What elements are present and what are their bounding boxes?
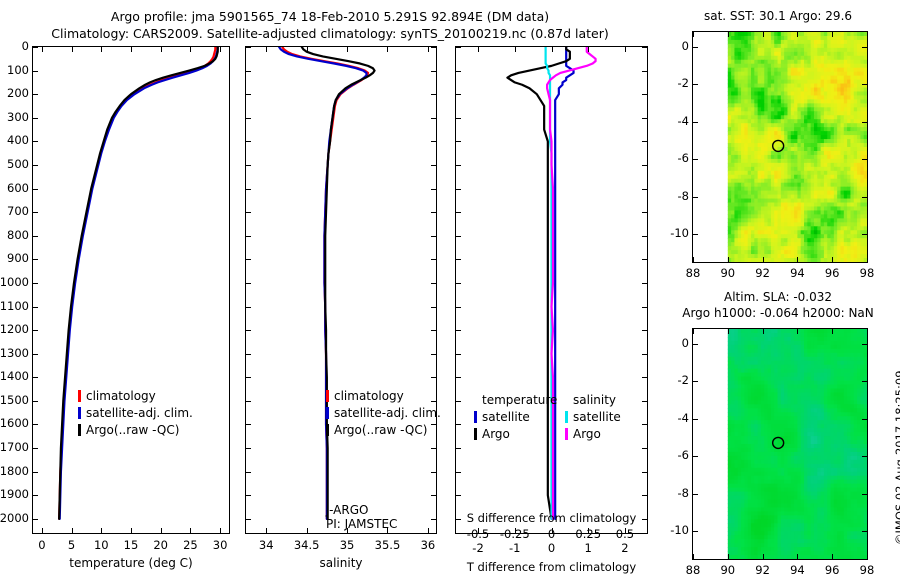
axis-tick-mark — [33, 377, 38, 378]
axis-tick-label: 100 — [0, 63, 29, 77]
axis-tick-label: 200 — [0, 86, 29, 100]
axis-tick-label: 300 — [0, 110, 29, 124]
map-cell — [864, 337, 867, 342]
map-cell — [864, 206, 867, 211]
axis-tick-mark — [862, 122, 867, 123]
axis-tick-mark — [862, 234, 867, 235]
map-cell — [864, 68, 867, 73]
legend-label: Argo — [573, 427, 601, 441]
axis-tick-mark — [693, 234, 698, 235]
legend-label: climatology — [86, 389, 156, 403]
salinity-note-jargo: J-ARGO — [326, 503, 368, 517]
salinity-legend-item: satellite-adj. clim. — [326, 405, 441, 422]
map-cell — [864, 214, 867, 219]
axis-tick-mark — [33, 495, 38, 496]
salinity-legend-item: Argo(..raw -QC) — [326, 422, 441, 439]
axis-tick-label: -2 — [659, 76, 689, 90]
axis-tick-mark — [131, 47, 132, 52]
legend-label: climatology — [334, 389, 404, 403]
axis-tick-mark — [33, 165, 38, 166]
map-cell — [864, 448, 867, 453]
axis-tick-mark — [33, 283, 38, 284]
axis-tick-label: 90 — [710, 266, 746, 280]
axis-tick-label: -4 — [659, 114, 689, 128]
map-cell — [864, 238, 867, 243]
map-cell — [864, 511, 867, 516]
axis-tick-mark — [161, 528, 162, 533]
map-cell — [864, 523, 867, 528]
map-cell — [864, 123, 867, 128]
map-cell — [864, 460, 867, 465]
map-cell — [864, 218, 867, 223]
axis-tick-label: 1500 — [0, 393, 29, 407]
difference-salinity-axis-label: S difference from climatology — [455, 511, 648, 525]
map-cell — [864, 428, 867, 433]
axis-tick-mark — [693, 257, 694, 262]
salinity-legend-item: climatology — [326, 388, 441, 405]
axis-tick-mark — [161, 47, 162, 52]
legend-label: satellite-adj. clim. — [86, 406, 193, 420]
axis-tick-mark — [101, 47, 102, 52]
map-cell — [864, 111, 867, 116]
salinity-profile-plot — [245, 46, 437, 534]
map-cell — [864, 179, 867, 184]
axis-tick-label: -8 — [659, 189, 689, 203]
axis-tick-mark — [693, 32, 694, 37]
map-cell — [864, 56, 867, 61]
axis-tick-label: 0 — [532, 541, 572, 555]
axis-tick-mark — [307, 47, 308, 52]
axis-tick-mark — [33, 212, 38, 213]
axis-tick-label: -10 — [659, 226, 689, 240]
axis-tick-label: 1400 — [0, 369, 29, 383]
axis-tick-mark — [387, 47, 388, 52]
map-cell — [864, 64, 867, 69]
map-cell — [864, 76, 867, 81]
legend-label: Argo(..raw -QC) — [86, 423, 179, 437]
map-cell — [864, 349, 867, 354]
axis-tick-label: 1 — [568, 541, 608, 555]
map-cell — [864, 163, 867, 168]
axis-tick-mark — [266, 47, 267, 52]
axis-tick-label: 1800 — [0, 464, 29, 478]
difference-profile-plot — [455, 46, 648, 534]
map-cell — [864, 91, 867, 96]
axis-tick-mark — [515, 528, 516, 533]
map-cell — [864, 52, 867, 57]
axis-tick-mark — [72, 47, 73, 52]
axis-tick-mark — [867, 257, 868, 262]
axis-tick-mark — [33, 330, 38, 331]
axis-tick-mark — [588, 47, 589, 52]
legend-label: satellite — [482, 410, 530, 424]
legend-label: satellite — [573, 410, 621, 424]
map-cell — [864, 250, 867, 255]
salinity-legend: climatologysatellite-adj. clim.Argo(..ra… — [326, 388, 441, 439]
map-cell — [864, 424, 867, 429]
map-cell — [864, 210, 867, 215]
axis-tick-mark — [33, 401, 38, 402]
legend-label: Argo(..raw -QC) — [334, 423, 427, 437]
axis-tick-label: 1900 — [0, 487, 29, 501]
axis-tick-mark — [33, 94, 38, 95]
map-cell — [864, 246, 867, 251]
axis-tick-mark — [33, 424, 38, 425]
axis-tick-label: 92 — [745, 266, 781, 280]
figure-title-line1: Argo profile: jma 5901565_74 18-Feb-2010… — [0, 9, 660, 24]
map-cell — [864, 488, 867, 493]
series-line-climatology — [59, 47, 215, 519]
axis-tick-mark — [33, 47, 38, 48]
axis-tick-mark — [862, 84, 867, 85]
axis-tick-mark — [42, 47, 43, 52]
map-cell — [864, 539, 867, 544]
axis-tick-mark — [33, 236, 38, 237]
axis-tick-mark — [307, 528, 308, 533]
axis-tick-mark — [220, 528, 221, 533]
legend-color-swatch — [326, 390, 329, 402]
axis-tick-label: -6 — [659, 151, 689, 165]
axis-tick-mark — [33, 118, 38, 119]
map-cell — [864, 472, 867, 477]
map-cell — [864, 507, 867, 512]
difference-legend-salinity-item: Argo — [565, 426, 621, 443]
axis-tick-mark — [72, 528, 73, 533]
map-cell — [864, 400, 867, 405]
axis-tick-label: 96 — [814, 266, 850, 280]
difference-legend-temperature-heading: temperature — [482, 392, 557, 409]
axis-tick-mark — [862, 197, 867, 198]
axis-tick-label: 1200 — [0, 322, 29, 336]
map-cell — [864, 464, 867, 469]
axis-tick-mark — [33, 71, 38, 72]
axis-tick-mark — [693, 122, 698, 123]
series-line-satellite-adj-clim- — [60, 47, 218, 519]
map-cell — [864, 151, 867, 156]
axis-tick-mark — [347, 47, 348, 52]
map-cell — [864, 127, 867, 132]
axis-tick-mark — [33, 307, 38, 308]
legend-color-swatch — [78, 390, 81, 402]
map-cell — [864, 440, 867, 445]
map-cell — [864, 143, 867, 148]
map-cell — [864, 496, 867, 501]
map-cell — [864, 203, 867, 208]
map-cell — [864, 412, 867, 417]
axis-tick-label: 500 — [0, 157, 29, 171]
axis-tick-label: 900 — [0, 251, 29, 265]
temperature-x-axis-label: temperature (deg C) — [32, 556, 230, 570]
map-cell — [864, 187, 867, 192]
axis-tick-mark — [625, 47, 626, 52]
axis-tick-mark — [763, 32, 764, 37]
map-cell — [864, 115, 867, 120]
legend-color-swatch — [326, 424, 329, 436]
axis-tick-label: 36 — [404, 538, 452, 552]
map-cell — [864, 48, 867, 53]
axis-tick-mark — [693, 84, 698, 85]
axis-tick-mark — [190, 47, 191, 52]
map-cell — [864, 345, 867, 350]
axis-tick-mark — [552, 47, 553, 52]
series-line-argo-raw-qc- — [59, 47, 218, 519]
series-line-temperature-argo — [507, 47, 569, 519]
map-cell — [864, 396, 867, 401]
axis-tick-label: 1000 — [0, 275, 29, 289]
map-cell — [864, 369, 867, 374]
axis-tick-label: 30 — [200, 538, 240, 552]
map-cell — [864, 242, 867, 247]
map-cell — [864, 404, 867, 409]
map-cell — [864, 476, 867, 481]
salinity-note-pi: PI: JAMSTEC — [326, 517, 397, 531]
temperature-legend-item: climatology — [78, 388, 193, 405]
axis-tick-label: -1 — [495, 541, 535, 555]
axis-tick-label: 94 — [779, 266, 815, 280]
difference-legend-salinity: salinitysatelliteArgo — [565, 392, 621, 443]
map-cell — [864, 103, 867, 108]
axis-tick-label: 0 — [659, 39, 689, 53]
series-line-temperature-satellite — [555, 47, 573, 519]
axis-tick-mark — [797, 32, 798, 37]
map-cell — [864, 199, 867, 204]
difference-legend-temperature-item: Argo — [474, 426, 557, 443]
map-cell — [864, 480, 867, 485]
map-cell — [864, 500, 867, 505]
axis-tick-mark — [728, 257, 729, 262]
axis-tick-mark — [552, 528, 553, 533]
map-cell — [864, 388, 867, 393]
axis-tick-mark — [42, 528, 43, 533]
map-cell — [864, 139, 867, 144]
series-line-satellite-adj-clim- — [279, 47, 366, 519]
map-cell — [864, 357, 867, 362]
map-cell — [864, 503, 867, 508]
map-cell — [864, 95, 867, 100]
difference-legend-salinity-item: satellite — [565, 409, 621, 426]
axis-tick-label: 800 — [0, 228, 29, 242]
map-cell — [864, 432, 867, 437]
map-cell — [864, 107, 867, 112]
axis-tick-mark — [693, 159, 698, 160]
axis-tick-mark — [478, 528, 479, 533]
axis-tick-mark — [867, 32, 868, 37]
difference-legend-salinity-heading: salinity — [573, 392, 621, 409]
sst-map — [692, 31, 868, 263]
map-cell — [864, 353, 867, 358]
map-cell — [864, 131, 867, 136]
axis-tick-mark — [693, 47, 698, 48]
axis-tick-mark — [220, 47, 221, 52]
difference-legend-temperature-item: satellite — [474, 409, 557, 426]
legend-label: satellite-adj. clim. — [334, 406, 441, 420]
map-cell — [864, 468, 867, 473]
map-cell — [864, 484, 867, 489]
axis-tick-label: 98 — [849, 266, 885, 280]
difference-temperature-axis-label: T difference from climatology — [452, 560, 651, 574]
axis-tick-label: 700 — [0, 204, 29, 218]
temperature-legend-item: Argo(..raw -QC) — [78, 422, 193, 439]
map-cell — [864, 519, 867, 524]
axis-tick-label: 600 — [0, 181, 29, 195]
map-cell — [864, 167, 867, 172]
axis-tick-mark — [33, 472, 38, 473]
series-line-argo-raw-qc- — [302, 47, 375, 519]
axis-tick-mark — [728, 32, 729, 37]
axis-tick-mark — [478, 47, 479, 52]
map-cell — [864, 408, 867, 413]
map-cell — [864, 183, 867, 188]
axis-tick-mark — [428, 528, 429, 533]
axis-tick-label: 1300 — [0, 346, 29, 360]
temperature-profile-plot — [32, 46, 230, 534]
axis-tick-mark — [33, 259, 38, 260]
axis-tick-label: 2000 — [0, 511, 29, 525]
map-cell — [864, 99, 867, 104]
legend-color-swatch — [78, 424, 81, 436]
axis-tick-label: 1700 — [0, 440, 29, 454]
legend-color-swatch — [474, 428, 477, 440]
axis-tick-mark — [862, 159, 867, 160]
axis-tick-mark — [101, 528, 102, 533]
map-cell — [864, 361, 867, 366]
legend-color-swatch — [326, 407, 329, 419]
axis-tick-mark — [33, 448, 38, 449]
map-cell — [864, 226, 867, 231]
axis-tick-label: 88 — [675, 266, 711, 280]
axis-tick-mark — [190, 528, 191, 533]
legend-color-swatch — [474, 411, 477, 423]
sst-map-title: sat. SST: 30.1 Argo: 29.6 — [663, 9, 893, 23]
map-cell — [864, 147, 867, 152]
temperature-legend: climatologysatellite-adj. clim.Argo(..ra… — [78, 388, 193, 439]
axis-tick-mark — [797, 257, 798, 262]
legend-color-swatch — [78, 407, 81, 419]
axis-tick-mark — [763, 257, 764, 262]
map-cell — [864, 385, 867, 390]
map-cell — [864, 72, 867, 77]
difference-legend-temperature: temperaturesatelliteArgo — [474, 392, 557, 443]
sla-map-title-line1: Altim. SLA: -0.032 — [663, 290, 893, 304]
axis-tick-label: 2 — [605, 541, 645, 555]
map-cell — [864, 365, 867, 370]
figure-title-line2: Climatology: CARS2009. Satellite-adjuste… — [0, 26, 660, 41]
map-cell — [864, 515, 867, 520]
map-cell — [864, 222, 867, 227]
axis-tick-label: -2 — [458, 541, 498, 555]
axis-tick-mark — [131, 528, 132, 533]
axis-tick-label: 1100 — [0, 299, 29, 313]
axis-tick-mark — [266, 528, 267, 533]
legend-label: Argo — [482, 427, 510, 441]
map-cell — [864, 40, 867, 45]
map-cell — [864, 535, 867, 540]
axis-tick-label: 400 — [0, 133, 29, 147]
map-cell — [864, 88, 867, 93]
map-cell — [864, 543, 867, 548]
map-cell — [864, 175, 867, 180]
sla-map — [692, 328, 868, 560]
axis-tick-mark — [832, 257, 833, 262]
legend-color-swatch — [565, 428, 568, 440]
map-cell — [864, 444, 867, 449]
salinity-x-axis-label: salinity — [245, 556, 437, 570]
map-cell — [864, 171, 867, 176]
axis-tick-mark — [693, 197, 698, 198]
map-cell — [864, 420, 867, 425]
map-cell — [864, 191, 867, 196]
map-cell — [864, 373, 867, 378]
temperature-legend-item: satellite-adj. clim. — [78, 405, 193, 422]
map-cell — [864, 436, 867, 441]
map-cell — [864, 392, 867, 397]
map-cell — [864, 135, 867, 140]
axis-tick-mark — [832, 32, 833, 37]
axis-tick-mark — [33, 519, 38, 520]
axis-tick-label: 0 — [0, 39, 29, 53]
axis-tick-mark — [33, 189, 38, 190]
map-cell — [864, 547, 867, 552]
sla-map-title-line2: Argo h1000: -0.064 h2000: NaN — [655, 306, 900, 320]
axis-tick-mark — [33, 354, 38, 355]
axis-tick-mark — [625, 528, 626, 533]
axis-tick-mark — [588, 528, 589, 533]
legend-color-swatch — [565, 411, 568, 423]
axis-tick-mark — [33, 141, 38, 142]
map-cell — [864, 60, 867, 65]
axis-tick-label: 1600 — [0, 416, 29, 430]
axis-tick-mark — [428, 47, 429, 52]
axis-tick-mark — [515, 47, 516, 52]
axis-tick-mark — [862, 47, 867, 48]
